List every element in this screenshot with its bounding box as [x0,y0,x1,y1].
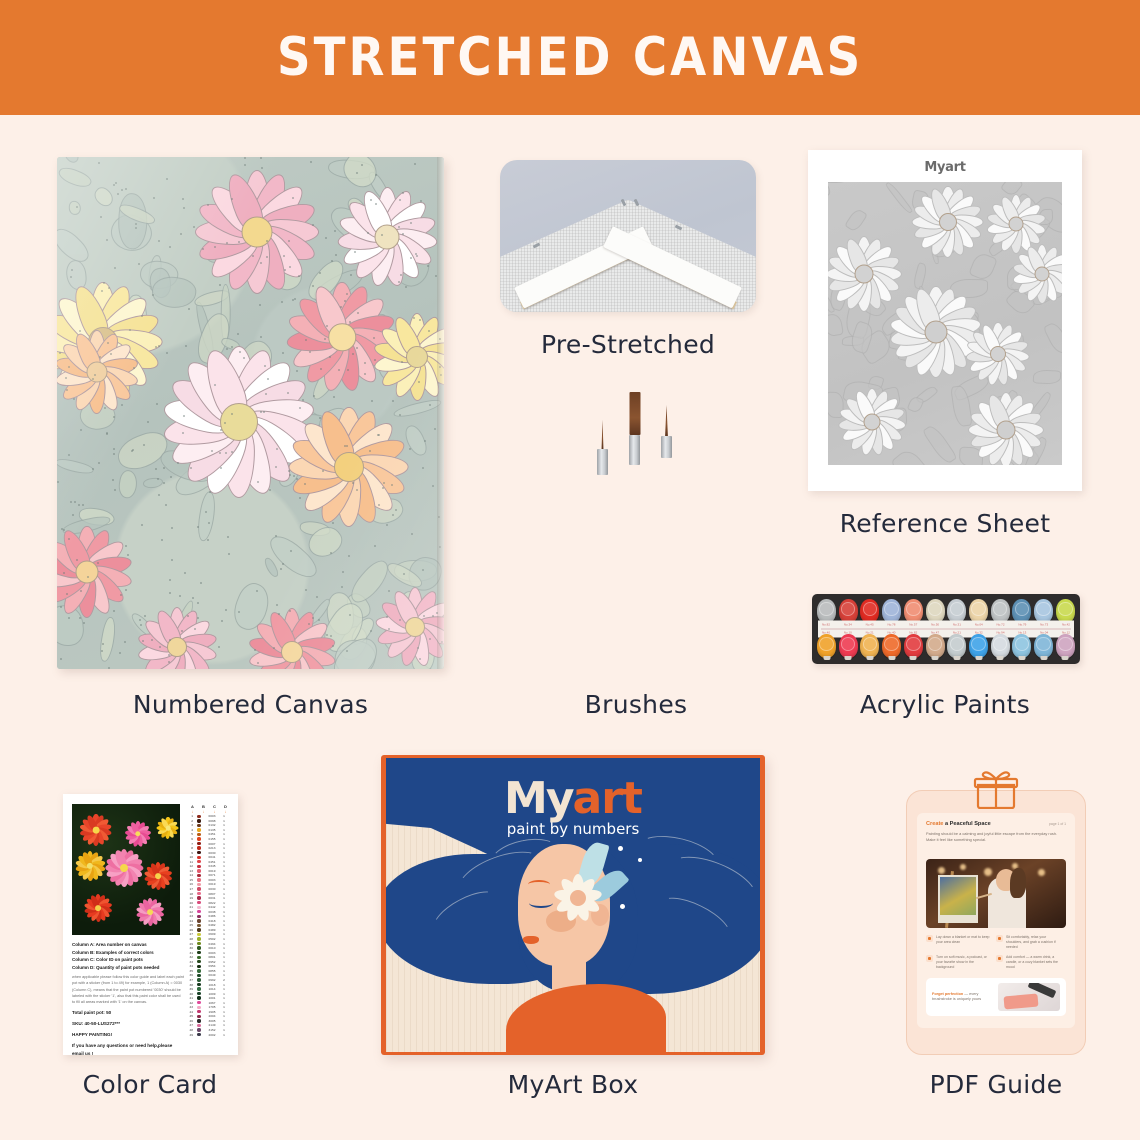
pot-quantity: 1 [220,1019,228,1023]
lips [523,936,539,944]
region-number-dot [423,615,425,617]
pot-quantity: 1 [220,860,228,864]
pot-quantity: 1 [220,928,228,932]
flower-center [87,362,108,383]
color-swatch [197,1001,200,1004]
region-number-dot [310,161,312,163]
color-swatch [197,851,200,854]
paint-pot[interactable] [1012,634,1031,658]
reference-sheet-image: Myart [808,150,1082,491]
color-swatch [197,987,200,990]
color-swatch-cell [194,992,204,995]
tip-text: Add comfort — a warm drink, a candle, or… [1006,955,1062,969]
tip-text: Turn on soft music, a podcast, or your f… [936,955,992,969]
region-number-dot [395,509,397,511]
pdf-guide-image: Create a Peaceful Space page 1 of 1 Pain… [906,790,1086,1055]
region-number-dot [371,400,373,402]
pot-quantity: 1 [220,987,228,991]
color-id: 0954 [204,964,220,968]
region-number-dot [289,266,291,268]
paint-pot[interactable] [817,599,836,623]
color-swatch-cell [194,883,204,886]
myart-box-image: Myart paint by numbers [381,755,765,1055]
area-number: 46 [187,1019,194,1023]
color-swatch-cell [194,828,204,831]
paint-pot-lid [906,637,920,651]
reference-sheet-logo: Myart [808,160,1082,175]
color-swatch [197,846,200,849]
arrow-down-icon: ↓ [187,809,198,814]
region-number-dot [79,330,81,332]
paint-code-label: No.78 [887,623,895,627]
area-number: 25 [187,923,194,927]
region-number-dot [312,617,314,619]
flower-center [242,217,273,248]
area-number: 45 [187,1014,194,1018]
color-id: 0992 [204,978,220,982]
region-number-dot [225,609,227,611]
flower-center [281,641,303,663]
area-number: 22 [187,910,194,914]
area-number: 32 [187,955,194,959]
paint-pot[interactable] [1034,599,1053,623]
area-number: 4 [187,828,194,832]
paint-pot[interactable] [926,599,945,623]
brush-ferrule [597,449,608,475]
region-number-dot [117,193,119,195]
region-number-dot [361,164,363,166]
paint-pot-lid [993,602,1007,616]
paint-pot[interactable] [991,599,1010,623]
pdf-guide-photo [926,859,1066,928]
region-number-dot [305,589,307,591]
color-swatch-cell [194,1015,204,1018]
region-number-dot [76,559,78,561]
paint-pot[interactable] [969,599,988,623]
area-number: 44 [187,1010,194,1014]
area-number: 37 [187,978,194,982]
reference-foliage [1042,320,1062,356]
pre-stretched-image [500,160,756,312]
paint-pot[interactable] [904,599,923,623]
color-swatch-cell [194,892,204,895]
column-a-desc: Column A: Area number on canvas [72,941,184,949]
tip-item: Turn on soft music, a podcast, or your f… [926,955,996,969]
region-number-dot [155,346,157,348]
paint-pot[interactable] [1034,634,1053,658]
region-number-dot [266,256,268,258]
page-title: STRETCHED CANVAS [277,27,863,88]
area-number: 8 [187,846,194,850]
color-swatch [197,1006,200,1009]
color-swatch-cell [194,969,204,972]
color-id: 0003 [204,951,220,955]
pot-quantity: 1 [220,1005,228,1009]
area-number: 13 [187,869,194,873]
area-number: 36 [187,973,194,977]
color-swatch [197,906,200,909]
color-swatch [197,833,200,836]
region-number-dot [282,563,284,565]
tip-text: Sit comfortably, relax your shoulders, a… [1006,935,1062,949]
tip-item: Sit comfortably, relax your shoulders, a… [996,935,1066,949]
region-number-dot [399,619,401,621]
caption-myart-box: MyArt Box [381,1070,765,1099]
region-number-dot [422,569,424,571]
pot-quantity: 1 [220,910,228,914]
region-number-dot [225,452,227,454]
color-swatch [197,992,200,995]
color-id: 0049 [204,973,220,977]
tip-icon [996,955,1003,962]
paint-pot-lid [993,637,1007,651]
area-number: 24 [187,919,194,923]
region-number-dot [302,399,304,401]
arrow-down-icon: ↓ [209,809,220,814]
pot-quantity: 1 [220,942,228,946]
paint-pot-row-bottom [817,634,1075,659]
flower-center [997,421,1016,440]
region-number-dot [121,404,123,406]
region-number-dot [197,602,199,604]
brush-round-medium [662,405,671,670]
flower-center [990,346,1006,362]
pot-quantity: 1 [220,1001,228,1005]
gift-icon [973,769,1019,814]
zinnia-center [93,827,100,834]
area-number: 23 [187,914,194,918]
region-number-dot [106,432,108,434]
pot-quantity: 1 [220,937,228,941]
paint-pot-lid [906,602,920,616]
myart-logo: Myart [386,773,760,824]
region-number-dot [420,200,422,202]
color-id: 0155 [204,837,220,841]
color-swatch-cell [194,933,204,936]
color-swatch-cell [194,887,204,890]
paint-pot[interactable] [882,599,901,623]
region-number-dot [424,440,426,442]
color-id: 1001 [204,996,220,1000]
pot-quantity: 1 [220,896,228,900]
paint-pot[interactable] [991,634,1010,658]
tip-item: Lay down a blanket or mat to keep your a… [926,935,996,949]
reference-foliage [1033,369,1062,385]
region-number-dot [227,536,229,538]
area-number: 26 [187,928,194,932]
region-number-dot [422,467,424,469]
pot-quantity: 1 [220,828,228,832]
color-swatch [197,842,200,845]
region-number-dot [414,163,416,165]
color-swatch-cell [194,965,204,968]
region-number-dot [63,572,65,574]
pot-quantity: 1 [220,914,228,918]
color-id: 0135 [204,828,220,832]
paint-pot[interactable] [1056,634,1075,658]
area-number: 31 [187,951,194,955]
color-swatch [197,896,200,899]
region-number-dot [78,504,80,506]
region-number-dot [410,222,412,224]
total-paint-pot: Total paint pot: 50 [72,1009,184,1016]
paint-pot-lid [1015,637,1029,651]
column-c-desc: Column C: Color ID on paint pots [72,956,184,964]
area-number: 48 [187,1028,194,1032]
caption-numbered-canvas: Numbered Canvas [57,690,444,719]
color-swatch [197,901,200,904]
region-number-dot [190,467,192,469]
flower-center [220,403,258,441]
color-id: 0003 [204,878,220,882]
color-swatch-cell [194,842,204,845]
color-swatch [197,869,200,872]
region-number-dot [71,269,73,271]
pot-quantity: 1 [220,832,228,836]
area-number: 16 [187,882,194,886]
region-number-dot [182,432,184,434]
paint-pot[interactable] [1012,599,1031,623]
area-number: 11 [187,860,194,864]
color-id: 0855 [204,969,220,973]
color-id: 0822 [204,901,220,905]
paint-pot[interactable] [947,634,966,658]
color-id: 0451 [204,860,220,864]
pot-quantity: 1 [220,973,228,977]
region-number-dot [356,347,358,349]
area-number: 29 [187,942,194,946]
zinnia-center [166,826,171,831]
reference-sheet-artwork [828,182,1062,465]
pot-quantity: 1 [220,819,228,823]
region-number-dot [239,351,241,353]
tip-text: Lay down a blanket or mat to keep your a… [936,935,992,949]
region-number-dot [367,232,369,234]
pot-quantity: 1 [220,882,228,886]
arrow-down-icon: ↓ [220,809,231,814]
region-number-dot [147,421,149,423]
reference-foliage [844,207,868,233]
region-number-dot [386,524,388,526]
region-number-dot [138,263,140,265]
paint-pot-lid [971,637,985,651]
color-swatch-cell [194,937,204,940]
color-swatch [197,937,200,940]
color-id: 1009 [204,992,220,996]
area-number: 7 [187,842,194,846]
color-card-fine-print: when applicable please follow this color… [72,974,184,1004]
region-number-dot [124,641,126,643]
region-number-dot [180,233,182,235]
area-number: 34 [187,964,194,968]
color-swatch [197,974,200,977]
region-number-dot [108,667,110,669]
region-number-dot [402,192,404,194]
daisy-center [570,890,586,906]
color-id: 0030 [204,851,220,855]
region-number-dot [428,330,430,332]
brush-ferrule [661,436,672,458]
color-id: 0952 [204,960,220,964]
painter-hair [1010,868,1026,898]
region-number-dot [346,445,348,447]
paint-code-label: No.79 [1018,623,1026,627]
paint-pot[interactable] [860,599,879,623]
region-number-dot [398,281,400,283]
region-number-dot [278,613,280,615]
color-id: 0489 [204,928,220,932]
color-swatch [197,878,200,881]
region-number-dot [289,610,291,612]
color-id: 0003 [204,814,220,818]
brush-bristles [601,420,604,449]
region-number-dot [419,658,421,660]
color-swatch [197,978,200,981]
sparkle-dot [638,858,642,862]
paint-pot-lid [950,602,964,616]
color-id: 1067 [204,1001,220,1005]
region-number-dot [140,624,142,626]
area-number: 27 [187,932,194,936]
color-swatch-cell [194,833,204,836]
pdf-guide-title: Create a Peaceful Space [926,821,1066,827]
pot-quantity: 1 [220,814,228,818]
paint-code-label: No.34 [844,623,852,627]
paint-pot[interactable] [969,634,988,658]
region-number-dot [340,306,342,308]
pot-quantity: 1 [220,1014,228,1018]
paint-pot-lid [863,602,877,616]
region-number-dot [264,365,266,367]
paint-code-label: No.57 [909,623,917,627]
brushes-image [588,385,684,670]
color-swatch [197,824,200,827]
region-number-dot [104,407,106,409]
area-number: 9 [187,851,194,855]
color-swatch [197,951,200,954]
color-id: 0071 [204,873,220,877]
color-swatch-cell [194,1033,204,1036]
region-number-dot [261,167,263,169]
color-swatch-cell [194,910,204,913]
paint-pot[interactable] [817,634,836,658]
color-id: 0442 [204,905,220,909]
region-number-dot [152,294,154,296]
paint-pot[interactable] [947,599,966,623]
region-number-dot [373,337,375,339]
color-chart-row: 4920021 [187,1032,231,1037]
paint-pot[interactable] [1056,599,1075,623]
region-number-dot [228,553,230,555]
pot-quantity: 1 [220,951,228,955]
region-number-dot [113,416,115,418]
region-number-dot [419,319,421,321]
area-number: 5 [187,832,194,836]
region-number-dot [68,617,70,619]
sparkle-dot [620,904,625,909]
paint-pot[interactable] [860,634,879,658]
pot-quantity: 1 [220,887,228,891]
pot-quantity: 1 [220,996,228,1000]
zinnia-center [155,873,161,879]
area-number: 28 [187,937,194,941]
region-number-dot [219,284,221,286]
eye-closed [529,898,553,908]
region-number-dot [374,545,376,547]
color-swatch [197,915,200,918]
color-id: 1014 [204,987,220,991]
color-id: 0019 [204,882,220,886]
bokeh-light [938,867,945,874]
paint-pot[interactable] [926,634,945,658]
paint-pot[interactable] [839,634,858,658]
region-number-dot [357,312,359,314]
canvas-side-edge [437,157,444,669]
paint-code-label: No.31 [953,623,961,627]
color-swatch [197,1015,200,1018]
region-number-dot [364,373,366,375]
color-swatch-cell [194,1001,204,1004]
region-number-dot [121,189,123,191]
region-number-dot [398,226,400,228]
paint-pot[interactable] [904,634,923,658]
paint-pot-lid [928,637,942,651]
pot-quantity: 1 [220,960,228,964]
region-number-dot [114,489,116,491]
sku-code: SKU: 40-50-LUS272*** [72,1020,184,1027]
region-number-dot [208,522,210,524]
tip-item: Add comfort — a warm drink, a candle, or… [996,955,1066,969]
region-number-dot [135,227,137,229]
color-swatch [197,892,200,895]
region-number-dot [267,378,269,380]
caption-reference-sheet: Reference Sheet [808,509,1082,538]
pot-quantity: 1 [220,846,228,850]
pot-quantity: 1 [220,905,228,909]
color-swatch-cell [194,919,204,922]
color-swatch [197,887,200,890]
color-swatch-cell [194,896,204,899]
pot-quantity: 1 [220,837,228,841]
color-id: 0010 [204,946,220,950]
region-number-dot [296,370,298,372]
paint-pot[interactable] [882,634,901,658]
box-front-face: Myart paint by numbers [386,758,760,1052]
paint-stroke [1003,994,1038,1010]
sparkle-dot [618,846,623,851]
color-id: 3152 [204,1028,220,1032]
acrylic-paints-image: No.82No.34No.45No.78No.57No.50No.31No.04… [812,594,1080,664]
tip-icon [926,935,933,942]
color-swatch-cell [194,1019,204,1022]
color-swatch-cell [194,983,204,986]
region-number-dot [335,254,337,256]
paint-pot-lid [1036,637,1050,651]
region-number-dot [325,237,327,239]
pot-quantity: 1 [220,923,228,927]
page-header: STRETCHED CANVAS [0,0,1140,115]
color-id: 0801 [204,955,220,959]
region-number-dot [159,646,161,648]
region-number-dot [329,356,331,358]
paint-code-label: No.72 [997,623,1005,627]
zinnia-center [95,905,101,911]
paint-pot[interactable] [839,599,858,623]
box-tagline: paint by numbers [386,820,760,838]
color-swatch [197,965,200,968]
color-swatch [197,1033,200,1036]
color-swatch [197,828,200,831]
